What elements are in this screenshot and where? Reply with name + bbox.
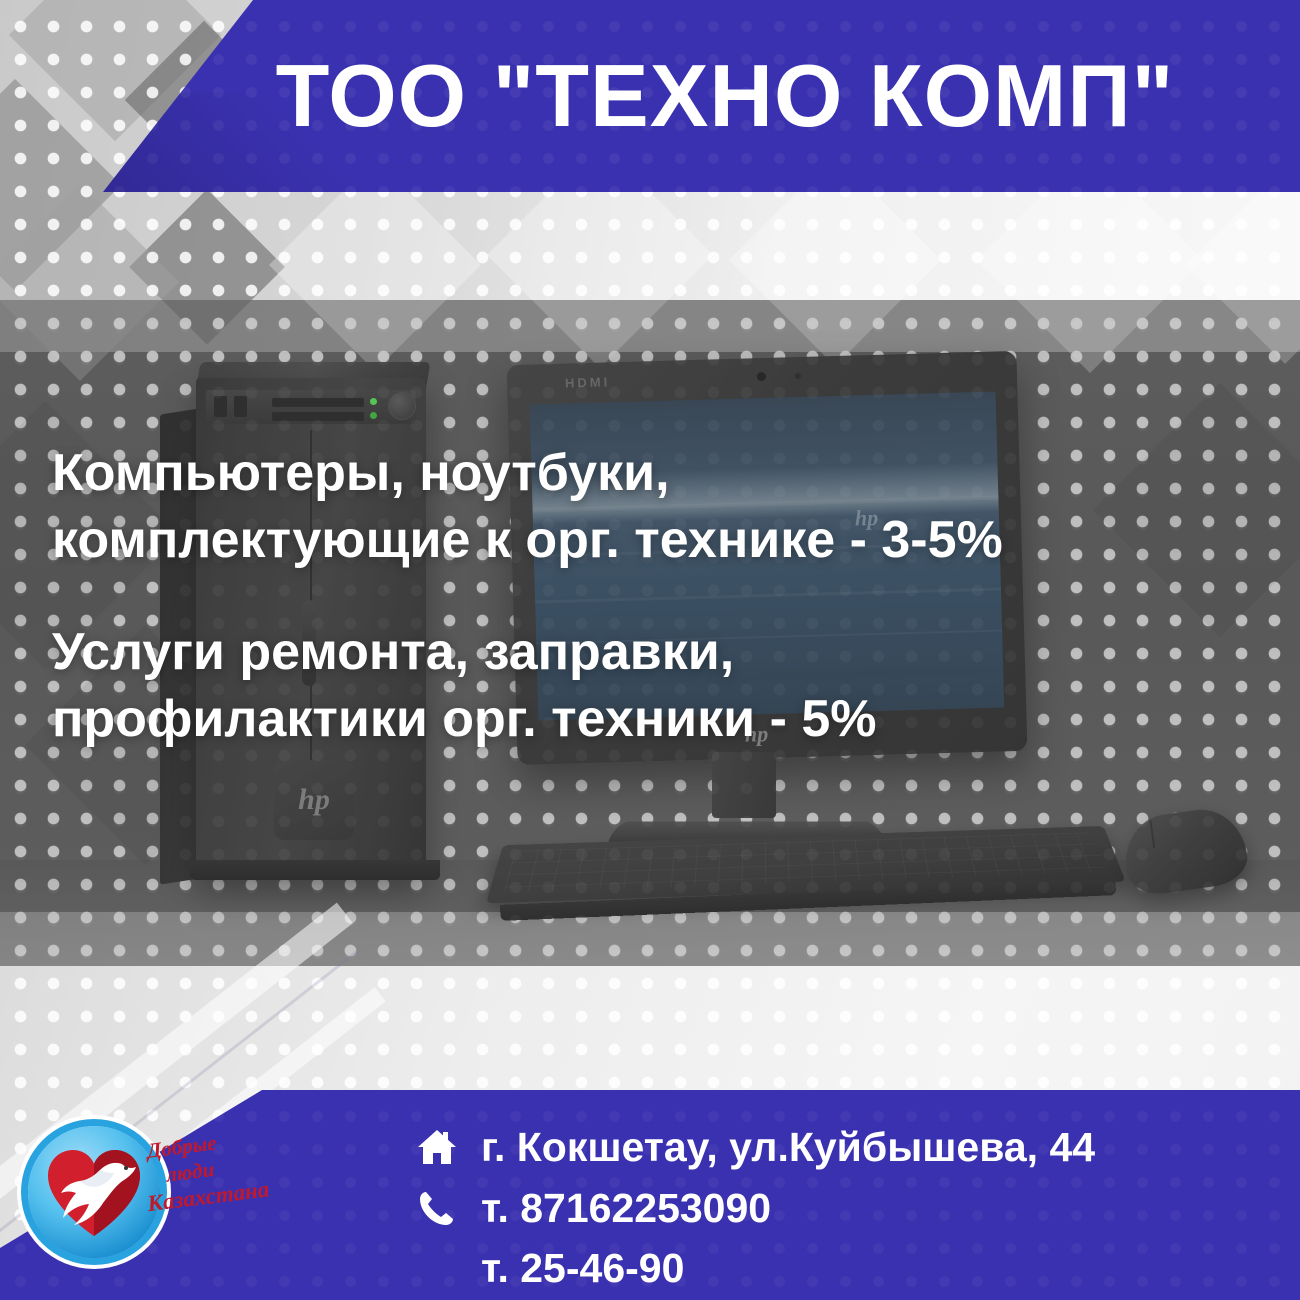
home-icon xyxy=(415,1125,459,1169)
contact-row-phone-1: т. 87162253090 xyxy=(415,1178,1275,1239)
offer-line: профилактики орг. техники - 5% xyxy=(52,686,1267,753)
contact-address-text: г. Кокшетау, ул.Куйбышева, 44 xyxy=(481,1117,1095,1178)
contact-info: г. Кокшетау, ул.Куйбышева, 44 т. 8716225… xyxy=(415,1117,1275,1299)
offer-list: Компьютеры, ноутбуки, комплектующие к ор… xyxy=(52,440,1267,752)
sponsor-name-line-3: Казахстана xyxy=(146,1176,265,1218)
dove-icon xyxy=(52,1150,138,1234)
offer-item-services: Услуги ремонта, заправки, профилактики о… xyxy=(52,619,1267,752)
offer-line: Компьютеры, ноутбуки, xyxy=(52,440,1267,507)
promo-poster: hp HDMI hp hp xyxy=(0,0,1300,1300)
contact-phone-secondary-text: т. 25-46-90 xyxy=(481,1238,684,1299)
phone-icon xyxy=(415,1186,459,1230)
contact-row-address: г. Кокшетау, ул.Куйбышева, 44 xyxy=(415,1117,1275,1178)
page-title: ТОО "ТЕХНО КОМП" xyxy=(0,0,1300,192)
sponsor-logo: Добрые люди Казахстана xyxy=(22,1118,252,1288)
offer-line: Услуги ремонта, заправки, xyxy=(52,619,1267,686)
offer-item-hardware: Компьютеры, ноутбуки, комплектующие к ор… xyxy=(52,440,1267,573)
contact-phone-primary-text: т. 87162253090 xyxy=(481,1178,771,1239)
offer-line: комплектующие к орг. технике - 3-5% xyxy=(52,507,1267,574)
sponsor-name: Добрые люди Казахстана xyxy=(146,1126,265,1218)
contact-row-phone-2: т. 25-46-90 xyxy=(415,1238,1275,1299)
